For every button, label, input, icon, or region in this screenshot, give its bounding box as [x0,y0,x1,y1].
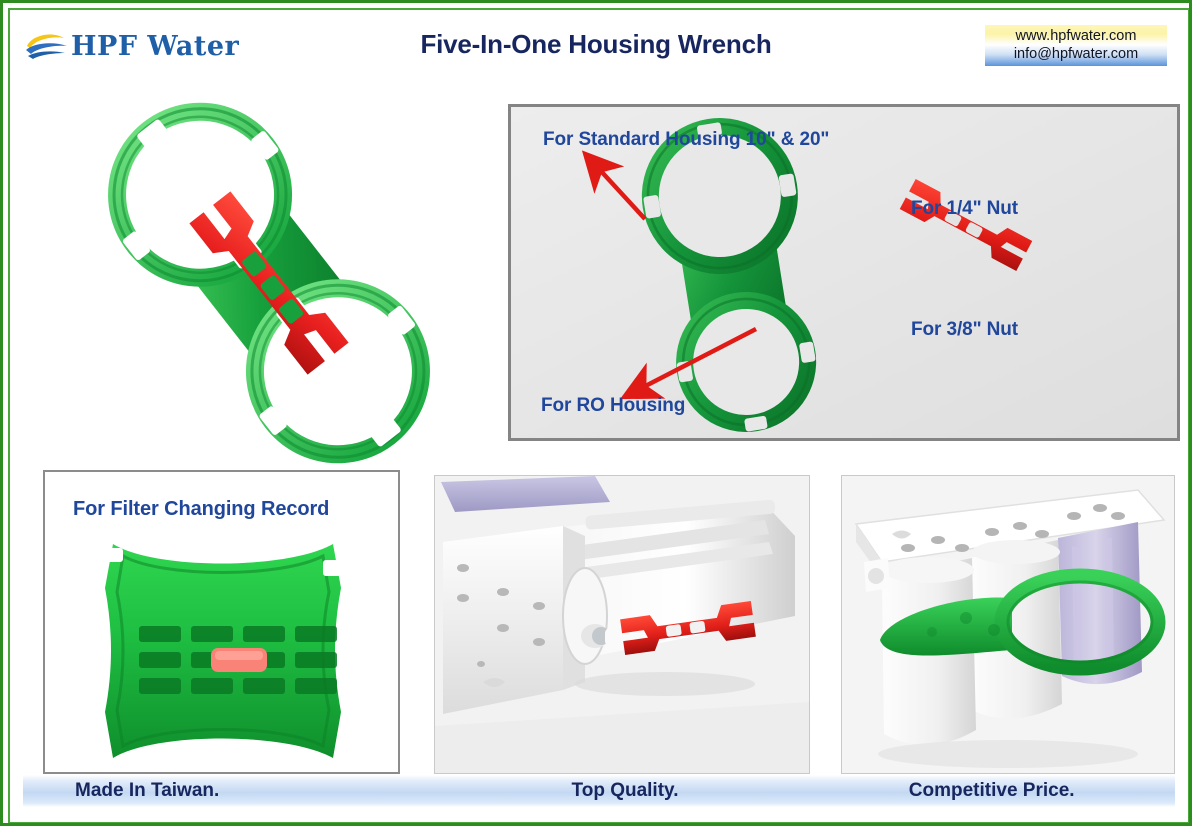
product-sheet-page: HPF Water Five-In-One Housing Wrench www… [0,0,1192,826]
label-quarter-inch-nut: For 1/4" Nut [911,198,1018,220]
footer-item-competitive-price: Competitive Price. [808,780,1175,802]
red-wrench-in-use-photo [434,475,810,774]
green-wrench-in-use-photo [841,475,1175,774]
website-text[interactable]: www.hpfwater.com [985,27,1167,45]
label-three-eighth-inch-nut: For 3/8" Nut [911,319,1018,341]
main-product-photo [31,95,501,465]
label-ro-housing: For RO Housing [541,395,685,417]
contact-box[interactable]: www.hpfwater.com info@hpfwater.com [985,25,1167,66]
footer-banner: Made In Taiwan. Top Quality. Competitive… [23,775,1175,807]
label-filter-changing-record: For Filter Changing Record [73,498,329,521]
annotated-product-panel: For Standard Housing 10" & 20" For RO Ho… [508,104,1180,441]
filter-changing-record-panel: For Filter Changing Record [43,470,400,774]
footer-item-made-in-taiwan: Made In Taiwan. [23,780,442,802]
email-text[interactable]: info@hpfwater.com [985,45,1167,63]
footer-item-top-quality: Top Quality. [442,780,809,802]
label-standard-housing: For Standard Housing 10" & 20" [543,129,829,151]
